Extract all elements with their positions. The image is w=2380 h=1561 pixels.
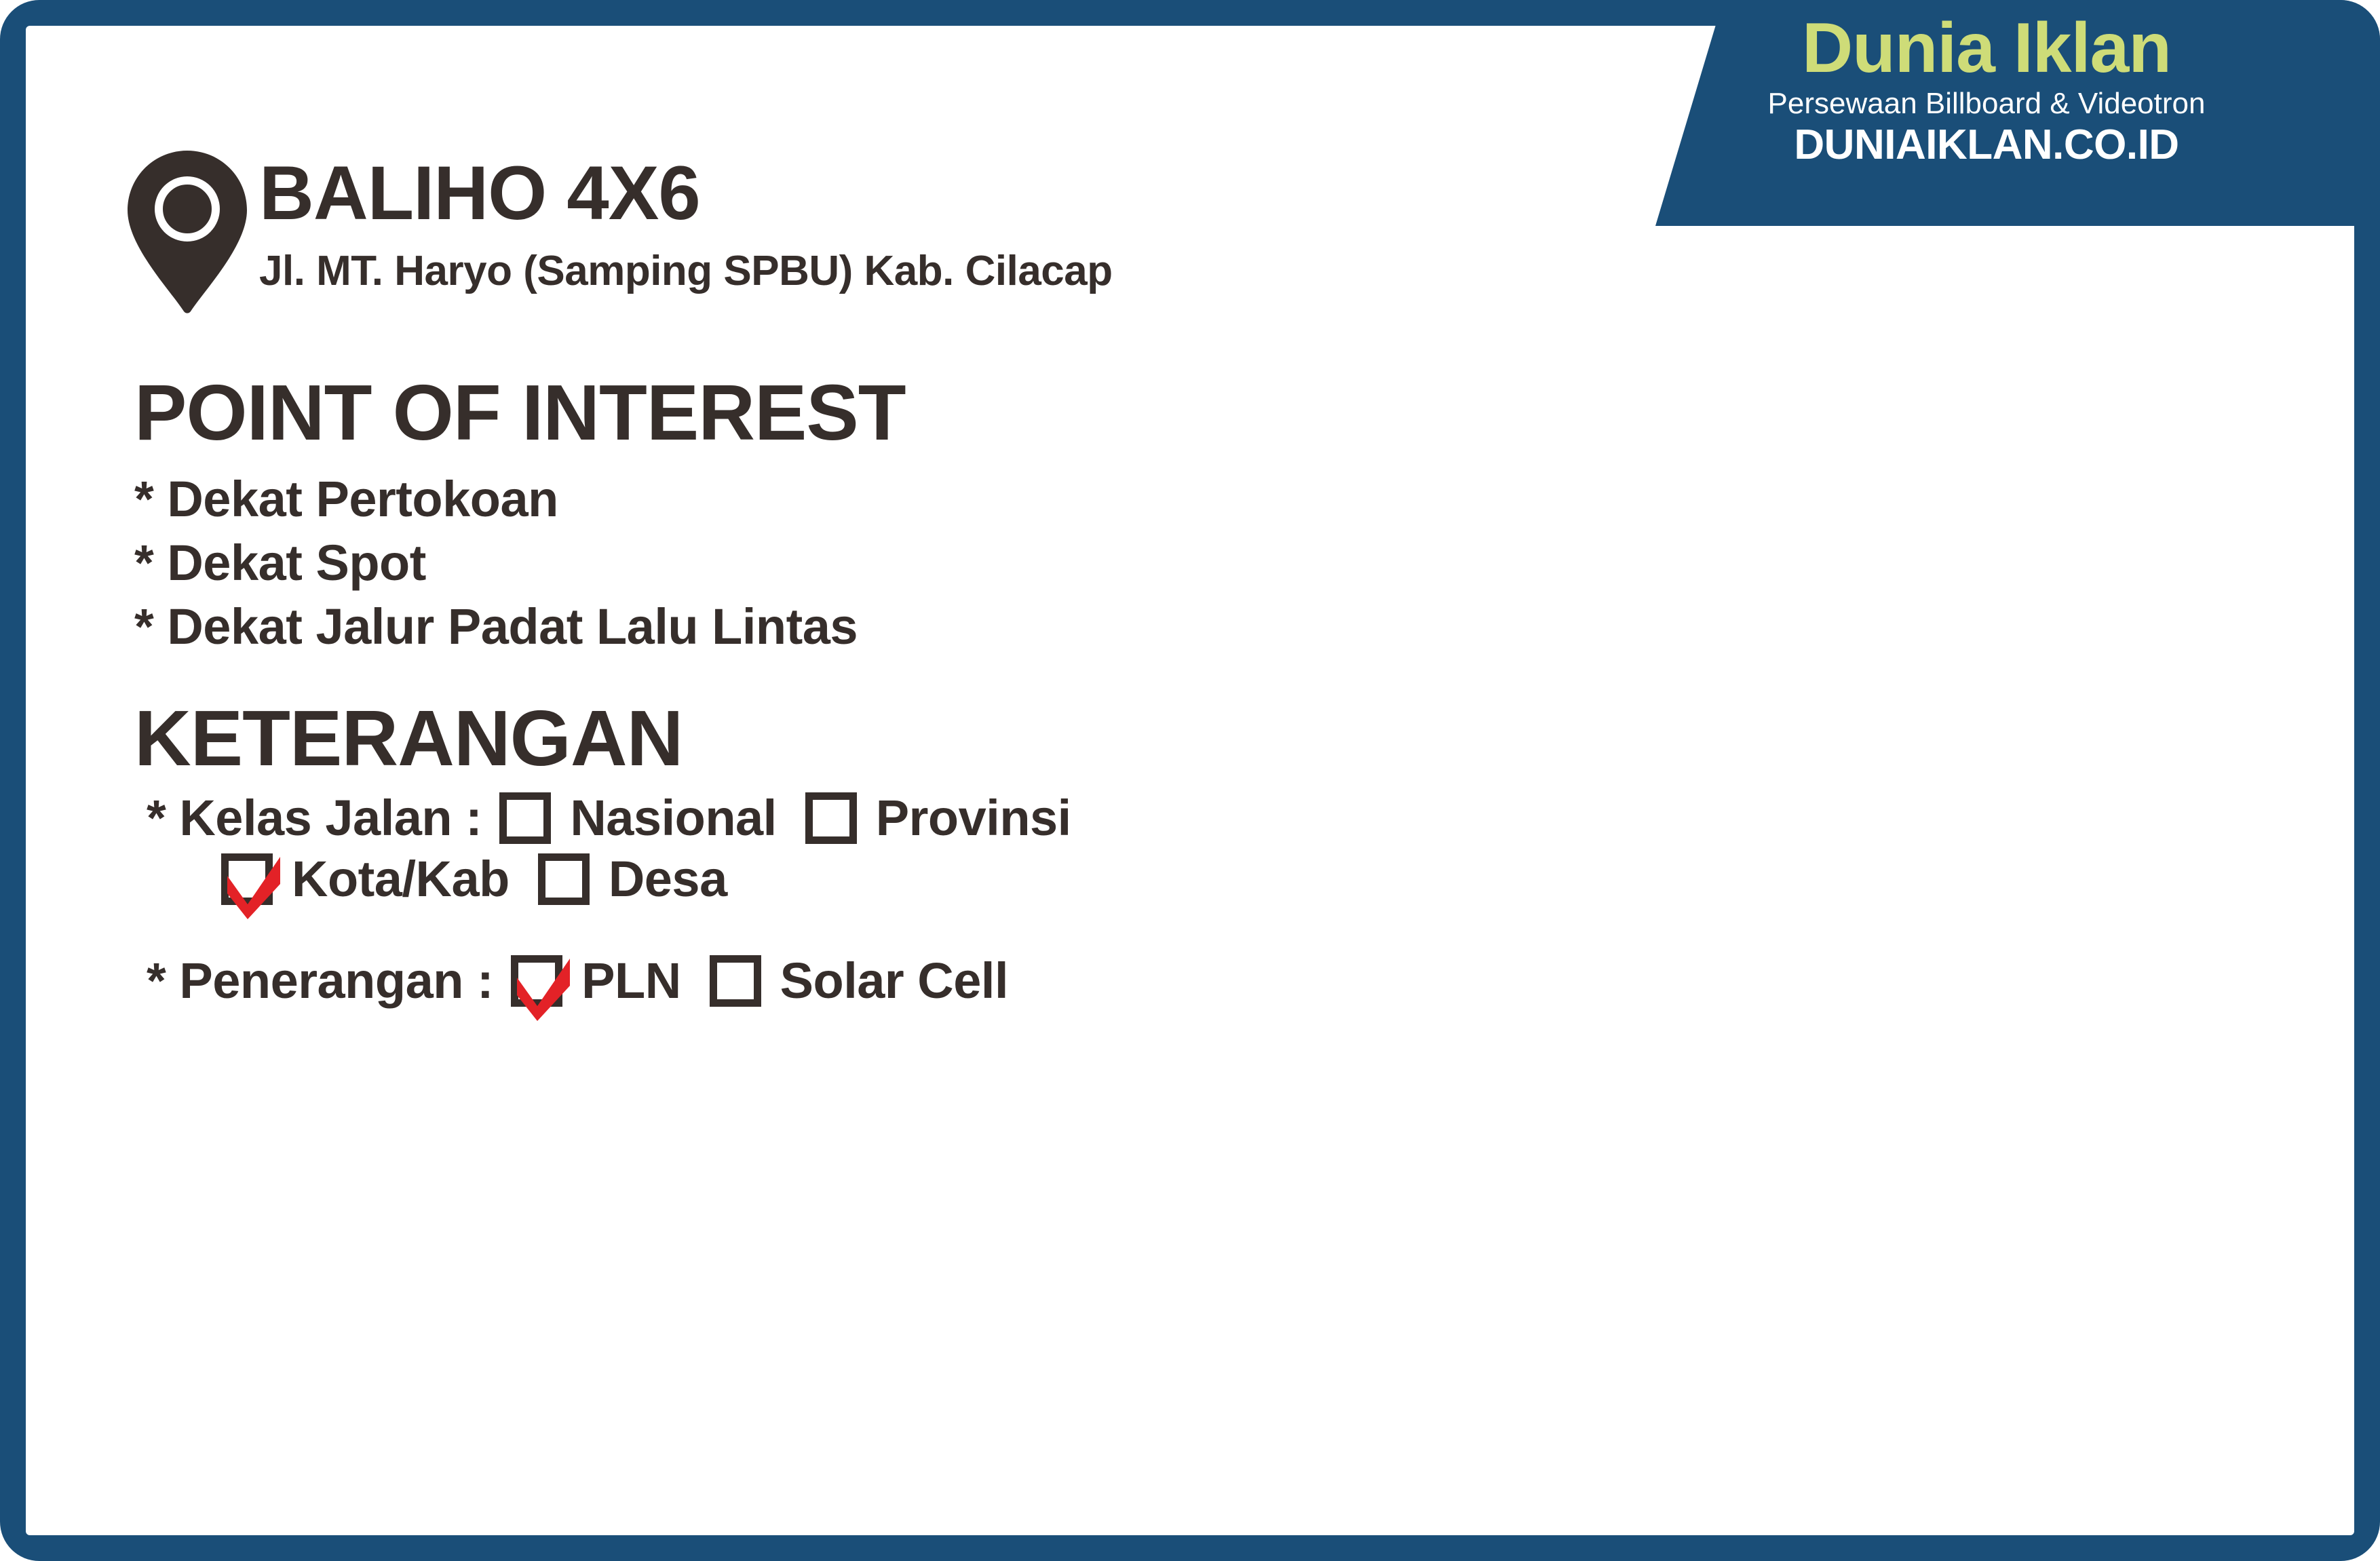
keterangan-block: * Kelas Jalan : Nasional Provinsi Kota/K… [147, 792, 2354, 1007]
brand-url: DUNIAIKLAN.CO.ID [1794, 123, 2179, 167]
checkbox-provinsi[interactable] [805, 792, 857, 844]
checkmark-icon [220, 851, 287, 922]
checkbox-label-nasional: Nasional [570, 793, 776, 843]
checkbox-kota-kab[interactable] [221, 853, 273, 905]
brand-name: Dunia Iklan [1802, 12, 2171, 84]
keterangan-row-kota-desa: Kota/Kab Desa [221, 853, 2354, 905]
kelas-jalan-label: * Kelas Jalan : [147, 793, 482, 843]
point-of-interest-heading: POINT OF INTEREST [134, 373, 2354, 452]
brand-text-group: Dunia Iklan Persewaan Billboard & Videot… [1593, 0, 2380, 226]
card-content: BALIHO 4X6 Jl. MT. Haryo (Samping SPBU) … [26, 26, 2354, 1535]
page-title: BALIHO 4X6 [259, 155, 1113, 232]
checkbox-pln[interactable] [511, 955, 562, 1007]
keterangan-row-penerangan: * Penerangan : PLN Solar Cell [147, 955, 2354, 1007]
checkbox-label-solar-cell: Solar Cell [780, 956, 1008, 1006]
card-inner-surface: BALIHO 4X6 Jl. MT. Haryo (Samping SPBU) … [26, 26, 2354, 1535]
keterangan-heading: KETERANGAN [134, 699, 2354, 777]
billboard-info-card: BALIHO 4X6 Jl. MT. Haryo (Samping SPBU) … [0, 0, 2380, 1561]
checkbox-label-provinsi: Provinsi [876, 793, 1071, 843]
list-item: * Dekat Jalur Padat Lalu Lintas [134, 600, 2354, 654]
checkbox-desa[interactable] [538, 853, 590, 905]
brand-tagline: Persewaan Billboard & Videotron [1768, 87, 2206, 121]
checkbox-label-kota-kab: Kota/Kab [292, 854, 510, 904]
list-item: * Dekat Spot [134, 536, 2354, 590]
point-of-interest-list: * Dekat Pertokoan * Dekat Spot * Dekat J… [134, 472, 2354, 654]
checkmark-icon [510, 953, 577, 1024]
checkbox-label-pln: PLN [581, 956, 681, 1006]
billboard-address: Jl. MT. Haryo (Samping SPBU) Kab. Cilaca… [259, 248, 1113, 294]
keterangan-row-kelas-jalan: * Kelas Jalan : Nasional Provinsi [147, 792, 2354, 844]
list-item: * Dekat Pertokoan [134, 472, 2354, 526]
header-texts: BALIHO 4X6 Jl. MT. Haryo (Samping SPBU) … [259, 141, 1113, 294]
checkbox-solar-cell[interactable] [710, 955, 761, 1007]
penerangan-label: * Penerangan : [147, 956, 493, 1006]
checkbox-label-desa: Desa [609, 854, 727, 904]
checkbox-nasional[interactable] [499, 792, 551, 844]
location-pin-icon [128, 151, 247, 313]
